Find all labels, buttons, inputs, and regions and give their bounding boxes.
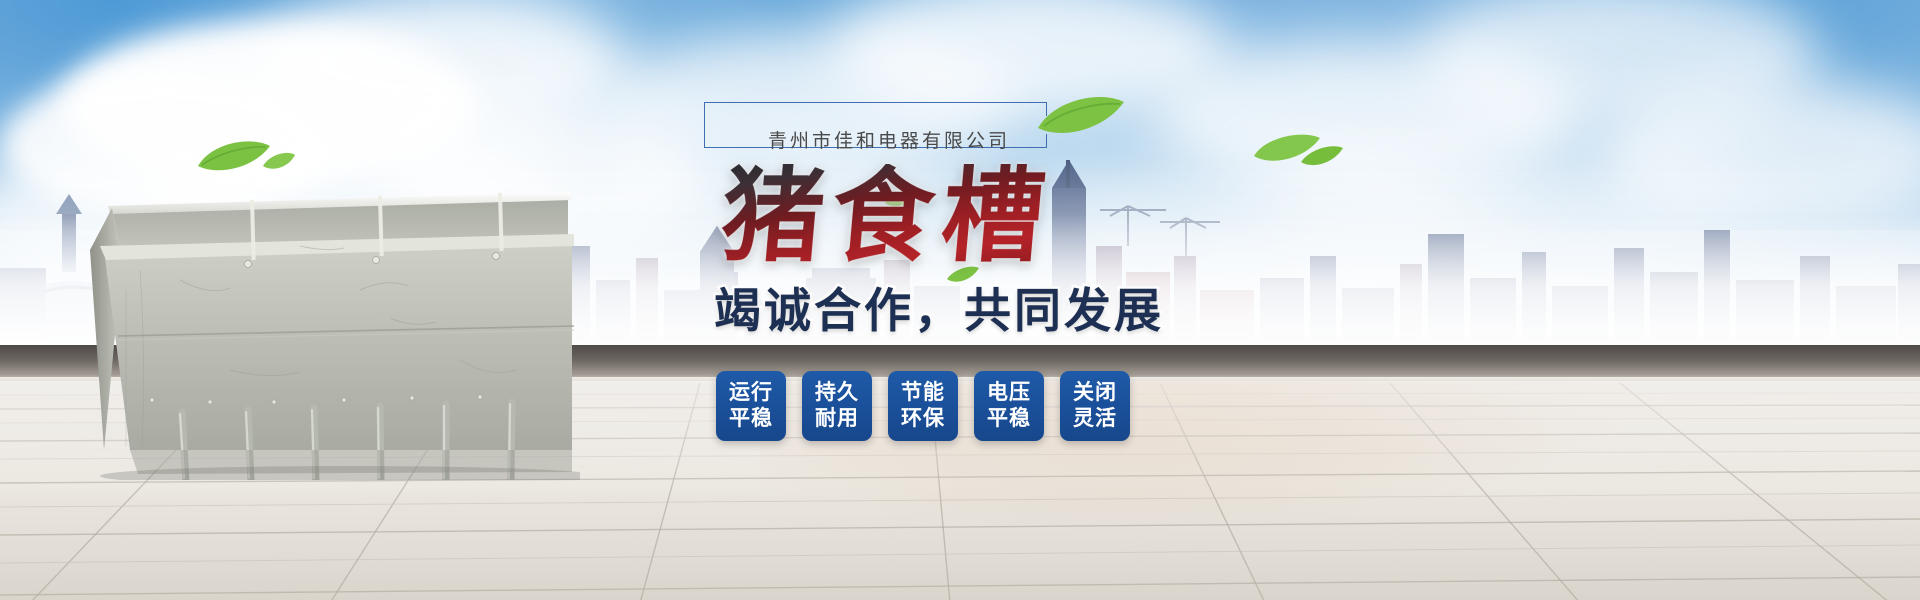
badge-line-1: 关闭 <box>1073 380 1117 406</box>
product-image-feeder-trough <box>60 150 580 480</box>
badge-line-2: 耐用 <box>815 406 859 432</box>
badge-line-1: 电压 <box>987 380 1031 406</box>
green-leaf-icon <box>196 140 272 176</box>
badge-line-1: 节能 <box>901 380 945 406</box>
feature-badge[interactable]: 持久 耐用 <box>802 371 872 441</box>
badge-line-1: 持久 <box>815 380 859 406</box>
badge-line-2: 平稳 <box>987 406 1031 432</box>
badge-line-2: 环保 <box>901 406 945 432</box>
page-title: 猪食槽 <box>717 164 1056 268</box>
badge-line-2: 平稳 <box>729 406 773 432</box>
green-leaf-icon <box>262 152 296 172</box>
badge-line-2: 灵活 <box>1073 406 1117 432</box>
feature-badge[interactable]: 节能 环保 <box>888 371 958 441</box>
badge-line-1: 运行 <box>729 380 773 406</box>
feature-badge-list: 运行 平稳 持久 耐用 节能 环保 电压 平稳 关闭 灵活 <box>716 371 1400 441</box>
banner-copy: 青州市佳和电器有限公司 猪食槽 竭诚合作，共同发展 运行 平稳 持久 耐用 节能… <box>700 96 1400 516</box>
feature-badge[interactable]: 电压 平稳 <box>974 371 1044 441</box>
subtitle: 竭诚合作，共同发展 <box>714 272 1400 341</box>
company-name: 青州市佳和电器有限公司 <box>762 126 1016 153</box>
feature-badge[interactable]: 关闭 灵活 <box>1060 371 1130 441</box>
hero-banner: 青州市佳和电器有限公司 猪食槽 竭诚合作，共同发展 运行 平稳 持久 耐用 节能… <box>0 0 1920 600</box>
company-name-frame: 青州市佳和电器有限公司 <box>704 96 1064 158</box>
feature-badge[interactable]: 运行 平稳 <box>716 371 786 441</box>
